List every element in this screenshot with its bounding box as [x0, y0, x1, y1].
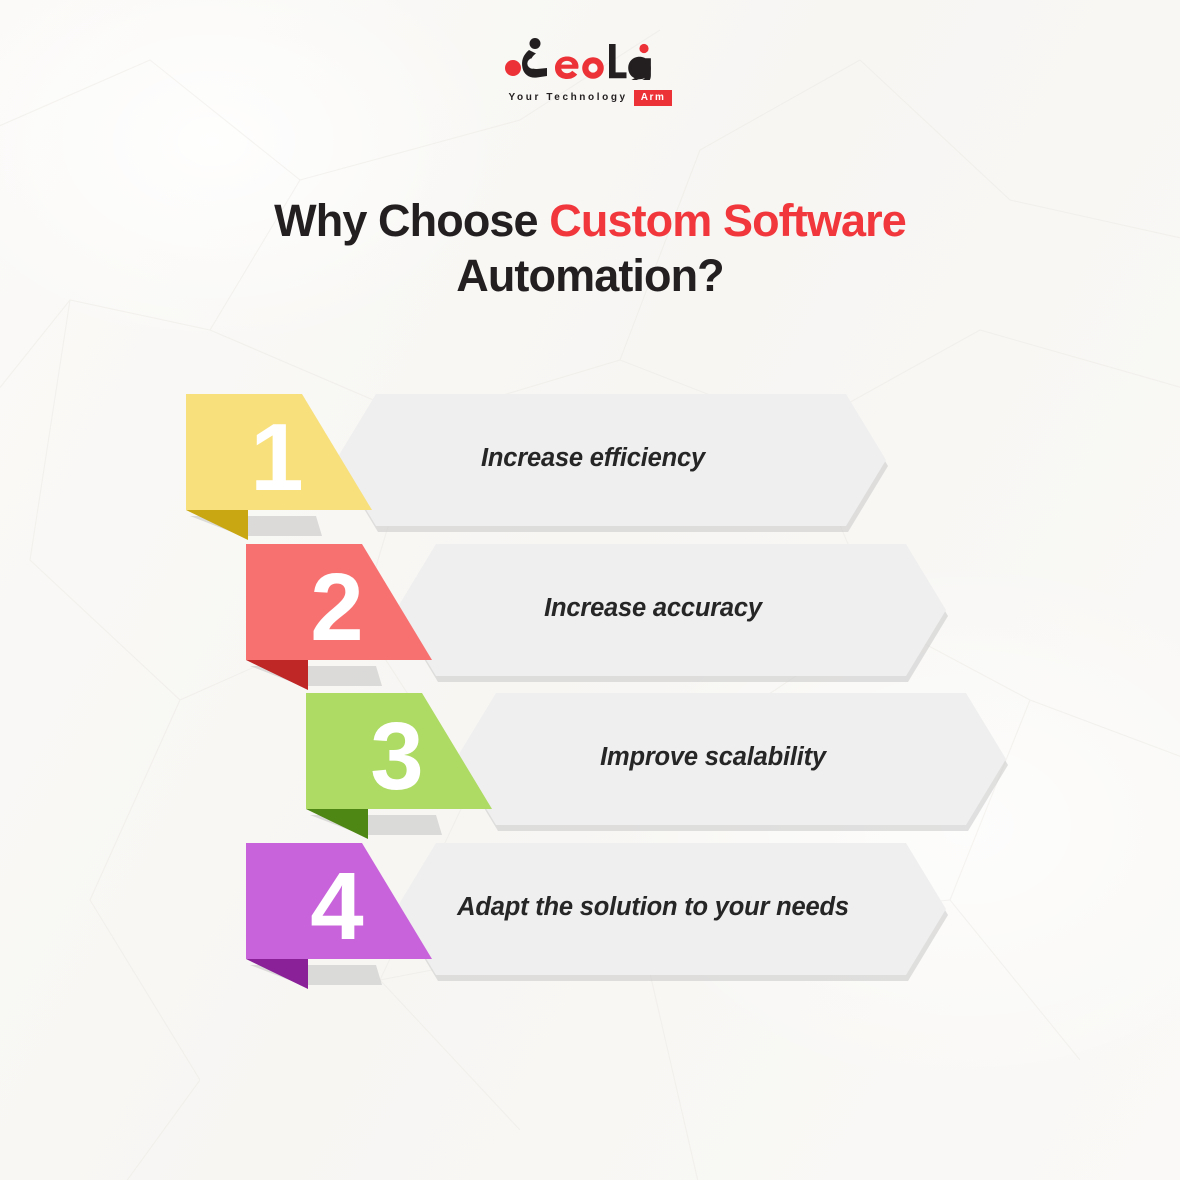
- step-bar: Increase accuracy: [396, 542, 946, 674]
- fold-3: [246, 959, 308, 989]
- number-fill-3: [246, 843, 432, 959]
- step-bar: Adapt the solution to your needs: [396, 841, 946, 973]
- steps-list: Increase efficiency 1 Increase accuracy: [0, 0, 1180, 1180]
- step-number-shape: [246, 542, 446, 692]
- infographic-canvas: Your Technology Arm Why Choose Custom So…: [0, 0, 1180, 1180]
- step-bar: Improve scalability: [456, 691, 1006, 823]
- step-number-shape: [306, 691, 506, 841]
- step-bar-shape: [336, 392, 896, 534]
- step-bar: Increase efficiency: [336, 392, 886, 524]
- step-number-shape: [186, 392, 386, 542]
- step-bar-shape: [456, 691, 1016, 833]
- number-fill-1: [246, 544, 432, 660]
- step-row: Increase accuracy 2: [246, 542, 946, 674]
- step-row: Increase efficiency 1: [186, 392, 886, 524]
- step-bar-shape: [396, 841, 956, 983]
- fold-2: [306, 809, 368, 839]
- step-number-block: 4: [246, 841, 441, 973]
- step-number-shape: [246, 841, 446, 991]
- fold-1: [246, 660, 308, 690]
- bar-fill-0: [336, 394, 886, 526]
- step-row: Improve scalability 3: [306, 691, 1006, 823]
- bar-fill-3: [396, 843, 946, 975]
- number-fill-2: [306, 693, 492, 809]
- fold-0: [186, 510, 248, 540]
- number-fill-0: [186, 394, 372, 510]
- bar-fill-1: [396, 544, 946, 676]
- step-number-block: 1: [186, 392, 381, 524]
- step-number-block: 2: [246, 542, 441, 674]
- step-number-block: 3: [306, 691, 501, 823]
- step-row: Adapt the solution to your needs 4: [246, 841, 946, 973]
- step-bar-shape: [396, 542, 956, 684]
- bar-fill-2: [456, 693, 1006, 825]
